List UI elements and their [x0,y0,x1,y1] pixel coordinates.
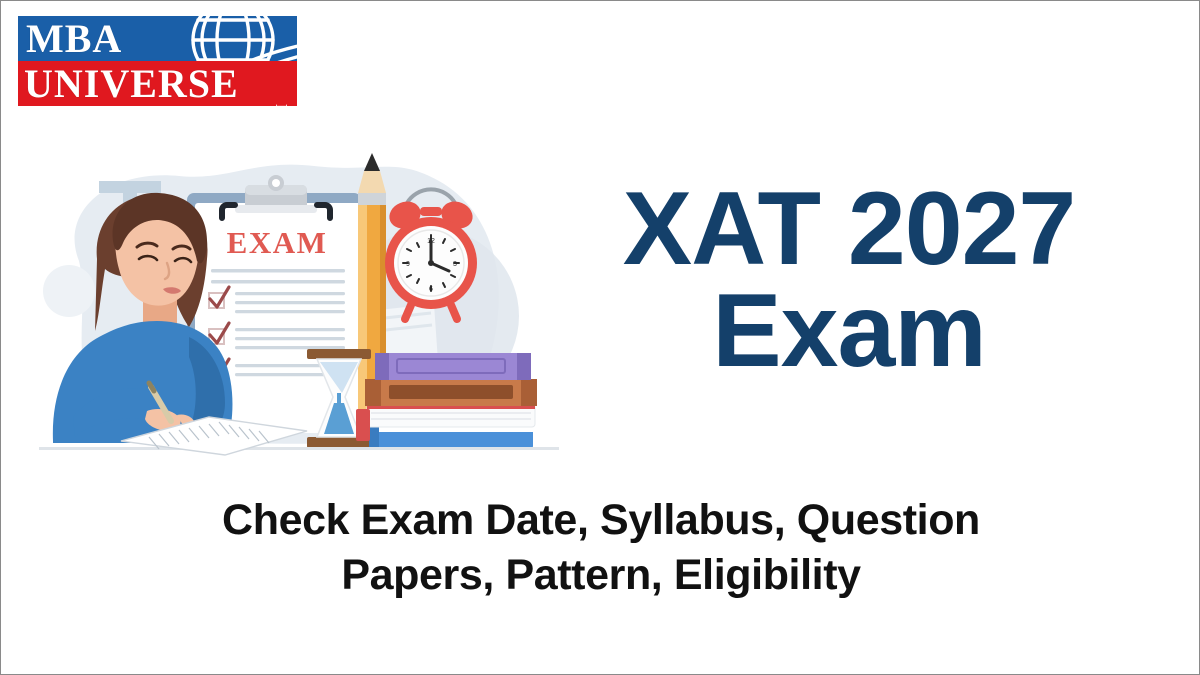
logo-word-universe: UNIVERSE [24,64,239,104]
logo-bottom-band: UNIVERSE .COM [18,61,297,106]
page-title: XAT 2027 Exam [549,179,1149,383]
site-logo[interactable]: MBA UNIVERSE .COM [15,13,300,109]
page-subtitle-line1: Check Exam Date, Syllabus, Question [61,493,1141,548]
page-title-line2: Exam [549,281,1149,383]
desk-line [39,447,559,450]
book-stack [356,353,537,449]
globe-grid-icon [175,16,297,61]
page-subtitle-line2: Papers, Pattern, Eligibility [61,548,1141,603]
logo-dotcom-wrap: .COM [269,61,295,106]
page-title-line1: XAT 2027 [549,179,1149,281]
svg-text:9: 9 [406,261,410,268]
logo-dotcom: .COM [273,103,290,106]
page-subtitle: Check Exam Date, Syllabus, Question Pape… [61,493,1141,603]
svg-text:3: 3 [453,261,457,268]
logo-word-mba: MBA [26,19,122,59]
clipboard-exam-heading: EXAM [227,225,328,260]
logo-top-band: MBA [18,16,297,61]
svg-text:6: 6 [429,286,433,293]
student-exam-illustration: EXAM [39,141,559,471]
promo-banner: MBA UNIVERSE .COM [0,0,1200,675]
